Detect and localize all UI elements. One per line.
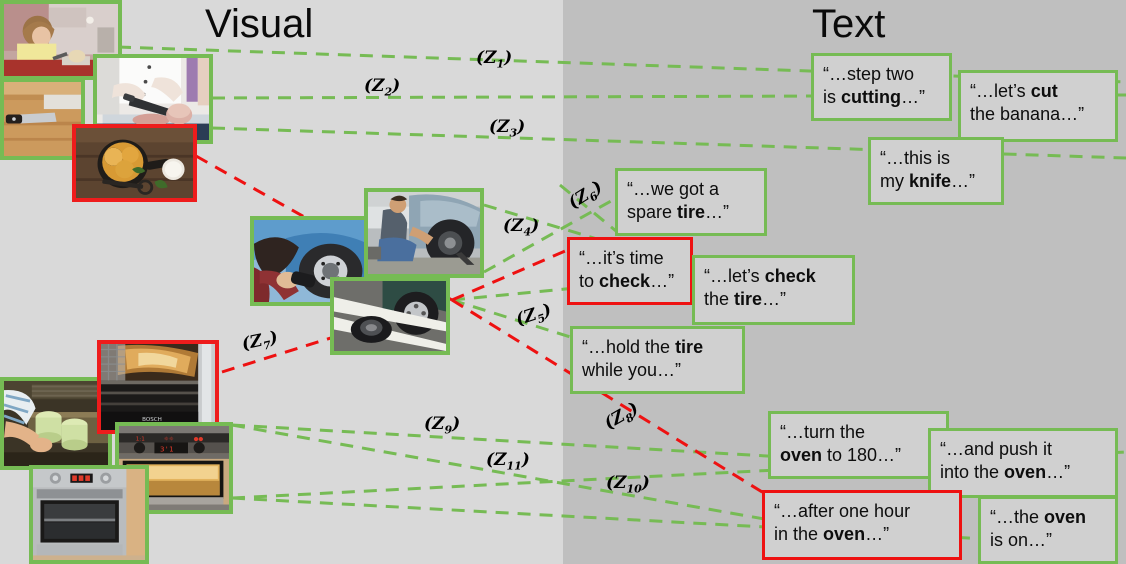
paren-close: ) xyxy=(531,216,539,236)
svg-text:3'1: 3'1 xyxy=(160,445,173,454)
text-box-step-two-cutting[interactable]: “…step twois cutting…” xyxy=(811,53,952,121)
z-base: Z xyxy=(494,450,506,470)
text-line: “…the oven xyxy=(990,506,1107,529)
text-run: while you…” xyxy=(582,360,681,380)
text-run: is xyxy=(823,87,841,107)
keyword: tire xyxy=(677,202,705,222)
text-line: in the oven…” xyxy=(774,523,951,546)
text-run: is on…” xyxy=(990,530,1052,550)
photo-artwork xyxy=(76,128,193,198)
text-run: …” xyxy=(865,524,889,544)
text-run: …” xyxy=(901,87,925,107)
keyword: oven xyxy=(1044,507,1086,527)
text-run: “…we got a xyxy=(627,179,719,199)
text-box-turn-the-oven-to-180[interactable]: “…turn theoven to 180…” xyxy=(768,411,949,479)
text-run: …” xyxy=(1046,462,1070,482)
text-run: “…and push it xyxy=(940,439,1052,459)
text-run: in the xyxy=(774,524,823,544)
paren-close: ) xyxy=(517,117,525,137)
text-line: “…let’s check xyxy=(704,265,844,288)
paren-open: ( xyxy=(503,216,511,236)
z-label-z3: (Z3) xyxy=(489,117,525,139)
text-run: to xyxy=(579,271,599,291)
z-subscript: 11 xyxy=(506,459,521,472)
text-line: “…it’s time xyxy=(579,247,682,270)
z-subscript: 9 xyxy=(444,423,452,436)
text-box-hold-the-tire-while-you[interactable]: “…hold the tirewhile you…” xyxy=(570,326,745,394)
text-box-we-got-a-spare-tire[interactable]: “…we got aspare tire…” xyxy=(615,168,767,236)
text-run: “…step two xyxy=(823,64,914,84)
paren-open: ( xyxy=(489,117,497,137)
text-line: “…after one hour xyxy=(774,500,951,523)
text-run: spare xyxy=(627,202,677,222)
paren-close: ) xyxy=(642,473,650,493)
text-run: to 180…” xyxy=(822,445,901,465)
text-box-after-one-hour-in-the-oven[interactable]: “…after one hourin the oven…” xyxy=(762,490,962,560)
text-run: …” xyxy=(650,271,674,291)
z-label-z4: (Z4) xyxy=(503,216,539,238)
text-run: …” xyxy=(705,202,729,222)
text-box-and-push-it-into-the-oven[interactable]: “…and push itinto the oven…” xyxy=(928,428,1118,498)
keyword: knife xyxy=(909,171,951,191)
photo-artwork xyxy=(4,82,81,156)
text-line: “…hold the tire xyxy=(582,336,734,359)
keyword: oven xyxy=(823,524,865,544)
text-run: my xyxy=(880,171,909,191)
text-run: the banana…” xyxy=(970,104,1084,124)
text-line: “…and push it xyxy=(940,438,1107,461)
paren-close: ) xyxy=(392,76,400,96)
visual-item-spare-tire-on-road[interactable] xyxy=(330,277,450,355)
z-subscript: 2 xyxy=(384,85,392,98)
text-line: into the oven…” xyxy=(940,461,1107,484)
text-box-lets-cut-the-banana[interactable]: “…let’s cutthe banana…” xyxy=(958,70,1118,142)
photo-artwork xyxy=(4,381,108,466)
paren-close: ) xyxy=(452,414,460,434)
keyword: cutting xyxy=(841,87,901,107)
text-line: to check…” xyxy=(579,270,682,293)
visual-item-roast-inside-lit-oven[interactable]: BOSCH xyxy=(97,340,219,434)
text-line: is cutting…” xyxy=(823,86,941,109)
paren-close: ) xyxy=(522,450,530,470)
z-subscript: 4 xyxy=(523,225,531,238)
keyword: oven xyxy=(1004,462,1046,482)
visual-item-skillet-food-dish[interactable] xyxy=(72,124,197,202)
text-line: the tire…” xyxy=(704,288,844,311)
z-base: Z xyxy=(497,117,509,137)
photo-artwork xyxy=(334,281,446,351)
visual-column-title: Visual xyxy=(205,2,313,46)
text-line: “…step two xyxy=(823,63,941,86)
text-run: “…let’s xyxy=(704,266,765,286)
text-box-lets-check-the-tire[interactable]: “…let’s checkthe tire…” xyxy=(692,255,855,325)
paren-open: ( xyxy=(606,473,614,493)
z-label-z11: (Z11) xyxy=(486,450,530,472)
text-run: “…after one hour xyxy=(774,501,910,521)
text-line: “…let’s cut xyxy=(970,80,1107,103)
text-line: oven to 180…” xyxy=(780,444,938,467)
text-run: into the xyxy=(940,462,1004,482)
text-line: “…turn the xyxy=(780,421,938,444)
text-run: “…this is xyxy=(880,148,950,168)
paren-open: ( xyxy=(476,48,484,68)
paren-close: ) xyxy=(504,48,512,68)
z-label-z9: (Z9) xyxy=(424,414,460,436)
text-line: “…this is xyxy=(880,147,993,170)
photo-artwork xyxy=(368,192,480,274)
z-base: Z xyxy=(372,76,384,96)
keyword: oven xyxy=(780,445,822,465)
z-subscript: 1 xyxy=(496,57,504,70)
visual-item-man-kneeling-by-tire[interactable] xyxy=(364,188,484,278)
svg-text:1:1: 1:1 xyxy=(136,437,145,443)
text-column-title: Text xyxy=(812,2,885,46)
svg-text:●●: ●● xyxy=(194,437,204,443)
paren-open: ( xyxy=(486,450,494,470)
text-line: spare tire…” xyxy=(627,201,756,224)
text-box-the-oven-is-on[interactable]: “…the ovenis on…” xyxy=(978,496,1118,564)
keyword: tire xyxy=(734,289,762,309)
text-line: is on…” xyxy=(990,529,1107,552)
paren-open: ( xyxy=(364,76,372,96)
text-run: “…hold the xyxy=(582,337,675,357)
z-label-z10: (Z10) xyxy=(606,473,650,495)
figure-canvas: Visual Text xyxy=(0,0,1126,564)
text-line: while you…” xyxy=(582,359,734,382)
z-label-z1: (Z1) xyxy=(476,48,512,70)
svg-text:☼☼: ☼☼ xyxy=(164,436,174,443)
text-run: the xyxy=(704,289,734,309)
visual-item-hands-placing-tray-in-oven[interactable] xyxy=(0,377,112,470)
text-box-this-is-my-knife[interactable]: “…this ismy knife…” xyxy=(868,137,1004,205)
z-subscript: 10 xyxy=(626,482,641,495)
keyword: check xyxy=(765,266,816,286)
z-base: Z xyxy=(511,216,523,236)
text-run: “…turn the xyxy=(780,422,865,442)
z-label-z2: (Z2) xyxy=(364,76,400,98)
text-run: …” xyxy=(951,171,975,191)
paren-open: ( xyxy=(424,414,432,434)
z-subscript: 3 xyxy=(509,126,517,139)
text-run: …” xyxy=(762,289,786,309)
keyword: tire xyxy=(675,337,703,357)
z-base: Z xyxy=(484,48,496,68)
photo-artwork: BOSCH xyxy=(101,344,215,430)
text-line: the banana…” xyxy=(970,103,1107,126)
text-run: “…let’s xyxy=(970,81,1031,101)
keyword: check xyxy=(599,271,650,291)
text-run: “…it’s time xyxy=(579,248,664,268)
z-base: Z xyxy=(432,414,444,434)
photo-artwork: : xyxy=(33,469,145,560)
keyword: cut xyxy=(1031,81,1058,101)
text-box-its-time-to-check[interactable]: “…it’s timeto check…” xyxy=(567,237,693,305)
visual-item-built-in-oven-in-cabinet[interactable]: : xyxy=(29,465,149,564)
text-line: “…we got a xyxy=(627,178,756,201)
z-base: Z xyxy=(614,473,626,493)
text-run: “…the xyxy=(990,507,1044,527)
text-line: my knife…” xyxy=(880,170,993,193)
